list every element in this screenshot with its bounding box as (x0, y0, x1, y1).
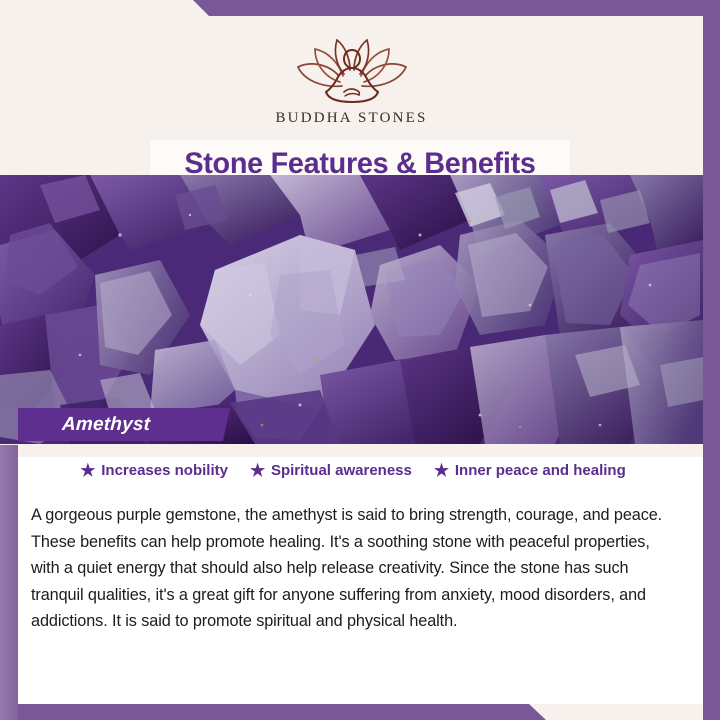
benefit-label: Spiritual awareness (271, 462, 412, 479)
brand-name: BUDDHA STONES (275, 110, 427, 127)
benefit-item: ★ Increases nobility (80, 462, 228, 479)
stone-name-label: Amethyst (61, 414, 150, 436)
benefits-list: ★ Increases nobility ★ Spiritual awarene… (18, 462, 688, 479)
frame-top-accent (0, 0, 720, 16)
stone-name-banner: Amethyst (18, 408, 230, 441)
amethyst-crystal-cluster-icon (0, 175, 703, 444)
star-icon: ★ (250, 463, 266, 479)
frame-bottom-accent (0, 704, 720, 720)
benefit-item: ★ Spiritual awareness (250, 462, 412, 479)
stone-details-card: ★ Increases nobility ★ Spiritual awarene… (18, 444, 703, 704)
hero-image-amethyst (0, 175, 703, 444)
card-top-strip (18, 444, 703, 457)
benefit-label: Inner peace and healing (455, 462, 626, 479)
stone-info-card: BUDDHA STONES Stone Features & Benefits (0, 0, 720, 720)
header: BUDDHA STONES Stone Features & Benefits (0, 16, 703, 175)
brand-logo: BUDDHA STONES (0, 34, 703, 127)
star-icon: ★ (434, 463, 450, 479)
benefit-item: ★ Inner peace and healing (434, 462, 626, 479)
lotus-meditation-icon (282, 34, 422, 106)
frame-right-accent (703, 0, 720, 720)
star-icon: ★ (80, 463, 96, 479)
benefit-label: Increases nobility (101, 462, 228, 479)
frame-left-accent-shading (0, 445, 18, 720)
stone-description: A gorgeous purple gemstone, the amethyst… (31, 502, 681, 635)
